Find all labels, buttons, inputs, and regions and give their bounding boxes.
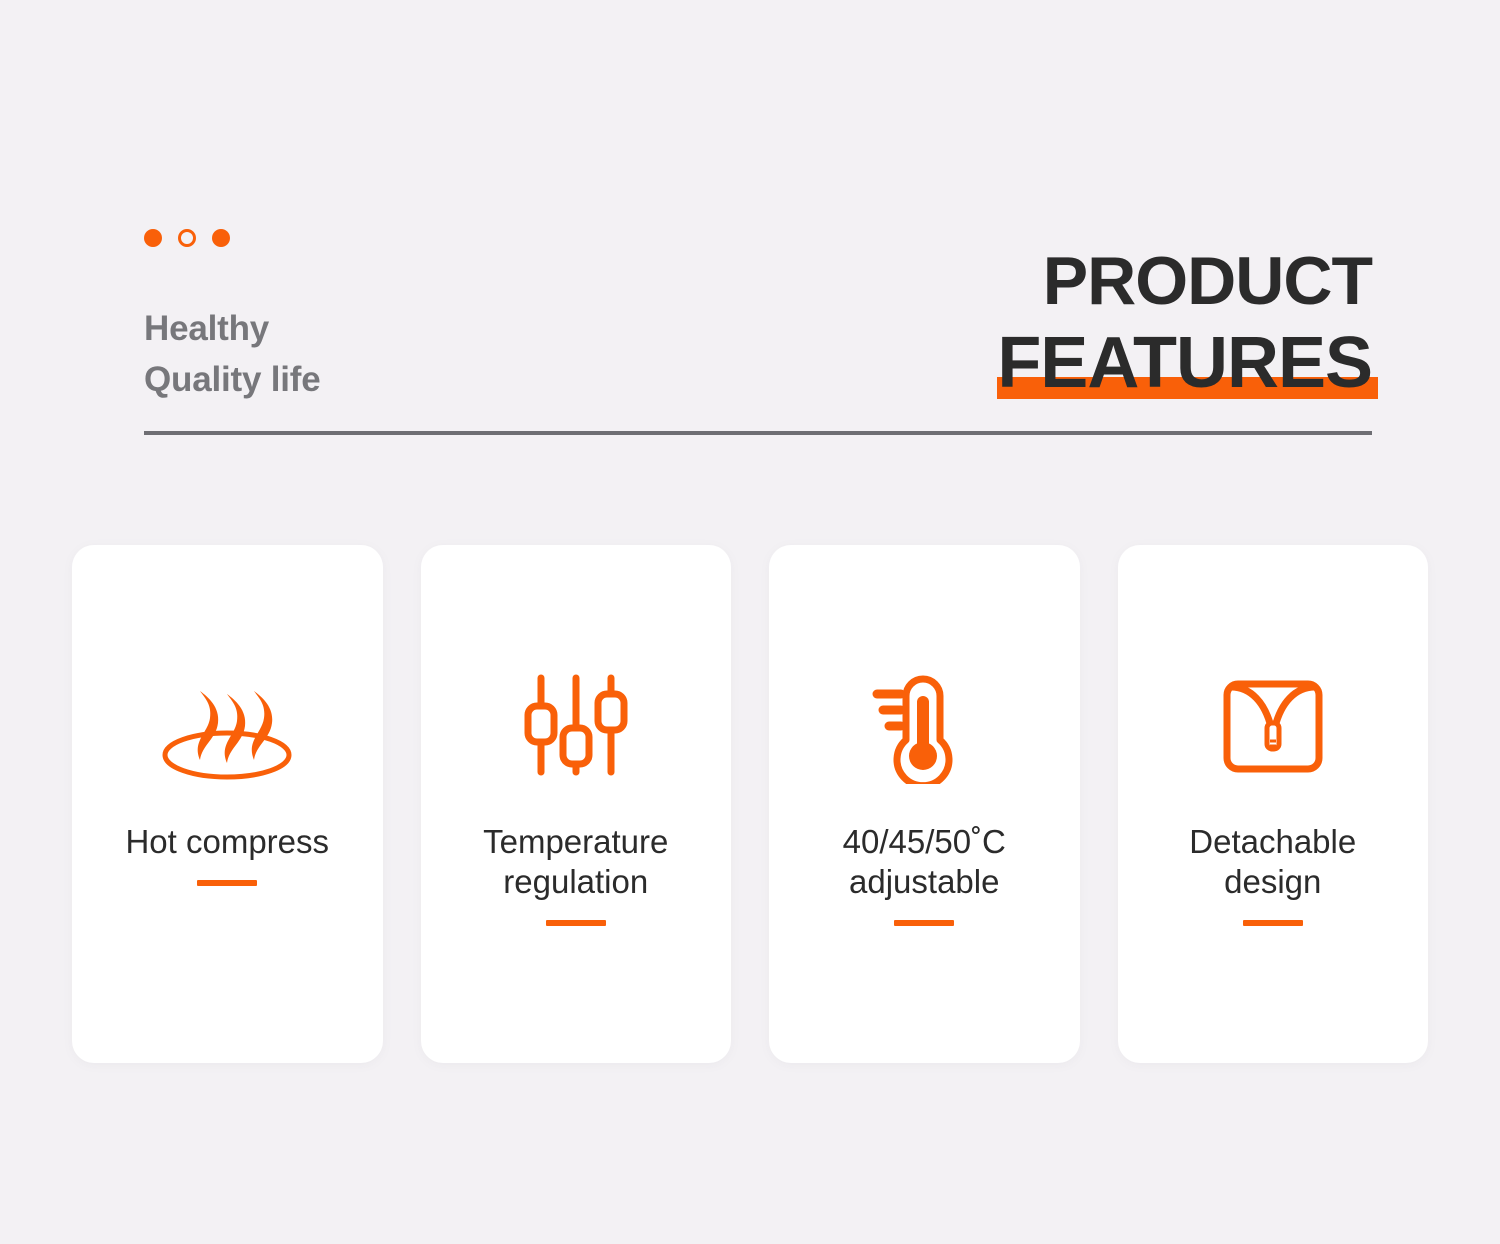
feature-card-underline <box>1243 920 1303 926</box>
page-title-line-2-text: FEATURES <box>997 323 1372 403</box>
feature-card-label: Detachable design <box>1177 822 1368 902</box>
header-right: PRODUCT FEATURES <box>997 247 1372 405</box>
feature-card-hot-compress[interactable]: Hot compress <box>72 545 383 1063</box>
tagline: Healthy Quality life <box>144 303 321 405</box>
feature-card-temperature-regulation[interactable]: Temperature regulation <box>421 545 732 1063</box>
page-title-line-2: FEATURES <box>997 327 1372 399</box>
page-title-line-1: PRODUCT <box>997 247 1372 315</box>
feature-card-label: Temperature regulation <box>471 822 680 902</box>
feature-card-underline <box>197 880 257 886</box>
dot-filled-2 <box>212 229 230 247</box>
slider-equalizer-icon <box>521 640 631 810</box>
header-left: Healthy Quality life <box>144 219 321 405</box>
feature-card-temperature-levels[interactable]: 40/45/50˚C adjustable <box>769 545 1080 1063</box>
dot-hollow <box>178 229 196 247</box>
dot-filled-1 <box>144 229 162 247</box>
product-features-infographic: Healthy Quality life PRODUCT FEATURES <box>0 0 1500 1244</box>
page-title-line-1-text: PRODUCT <box>1043 243 1372 319</box>
zipper-detachable-icon <box>1221 640 1325 810</box>
feature-card-underline <box>894 920 954 926</box>
feature-card-grid: Hot compress Temperature regulation <box>72 545 1428 1063</box>
dot-indicator-group <box>144 229 321 247</box>
feature-card-label: Hot compress <box>113 822 341 862</box>
feature-card-underline <box>546 920 606 926</box>
feature-card-label: 40/45/50˚C adjustable <box>831 822 1018 902</box>
feature-card-detachable-design[interactable]: Detachable design <box>1118 545 1429 1063</box>
hot-spring-steam-icon <box>152 640 302 810</box>
header: Healthy Quality life PRODUCT FEATURES <box>144 210 1372 405</box>
header-divider <box>144 431 1372 435</box>
thermometer-icon <box>869 640 979 810</box>
